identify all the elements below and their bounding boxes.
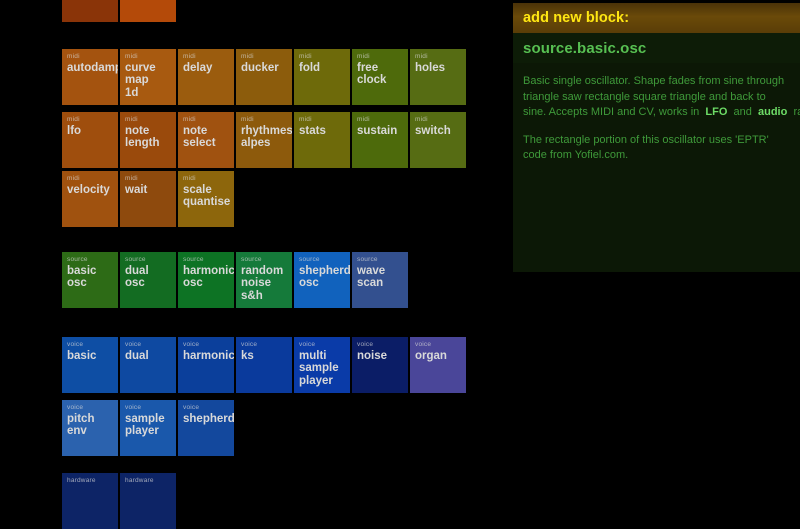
palette-block-shepherd[interactable]: voiceshepherd bbox=[178, 400, 234, 456]
block-category-label: midi bbox=[241, 54, 288, 61]
block-name-label: note length bbox=[125, 125, 172, 151]
block-name-label: basic bbox=[67, 350, 114, 363]
palette-block-fold[interactable]: midifold bbox=[294, 49, 350, 105]
block-category-label: midi bbox=[67, 176, 114, 183]
block-name-label: wave scan bbox=[357, 265, 404, 291]
block-name-label: organ bbox=[415, 350, 462, 363]
palette-block-unnamed[interactable]: hardware bbox=[62, 473, 118, 529]
block-category-label: midi bbox=[183, 117, 230, 124]
block-category-label: source bbox=[67, 257, 114, 264]
block-name-label: curve map 1d bbox=[125, 62, 172, 101]
palette-block-note-length[interactable]: midinote length bbox=[120, 112, 176, 168]
emphasis-audio: audio bbox=[758, 106, 787, 118]
palette-block-ducker[interactable]: mididucker bbox=[236, 49, 292, 105]
palette-block-unnamed[interactable]: hardware bbox=[120, 473, 176, 529]
block-name-label: sustain bbox=[357, 125, 404, 138]
palette-block-lfo[interactable]: midilfo bbox=[62, 112, 118, 168]
block-name-label: stats bbox=[299, 125, 346, 138]
palette-block-unnamed[interactable]: midi bbox=[62, 0, 118, 22]
block-category-label: voice bbox=[67, 405, 114, 412]
palette-block-wait[interactable]: midiwait bbox=[120, 171, 176, 227]
description-text-mid: and bbox=[727, 106, 758, 118]
block-category-label: voice bbox=[183, 405, 230, 412]
palette-block-holes[interactable]: midiholes bbox=[410, 49, 466, 105]
description-text-post: range bbox=[787, 106, 800, 118]
palette-block-dual-osc[interactable]: sourcedual osc bbox=[120, 252, 176, 308]
block-category-label: source bbox=[125, 257, 172, 264]
palette-block-organ[interactable]: voiceorgan bbox=[410, 337, 466, 393]
block-category-label: voice bbox=[357, 342, 404, 349]
block-name-label: velocity bbox=[67, 184, 114, 197]
palette-block-scale-quantise[interactable]: midiscale quantise bbox=[178, 171, 234, 227]
block-category-label: hardware bbox=[67, 478, 114, 485]
block-palette: midimidimidiautodampmidicurve map 1dmidi… bbox=[0, 0, 500, 503]
block-name-label: sample player bbox=[125, 413, 172, 439]
palette-block-sample-player[interactable]: voicesample player bbox=[120, 400, 176, 456]
block-name-label: rhythmes alpes bbox=[241, 125, 288, 151]
selected-block-title: source.basic.osc bbox=[523, 40, 646, 57]
block-category-label: voice bbox=[67, 342, 114, 349]
block-name-label: fold bbox=[299, 62, 346, 75]
info-panel-title-bar: source.basic.osc bbox=[513, 33, 800, 63]
block-category-label: midi bbox=[299, 117, 346, 124]
block-name-label: ks bbox=[241, 350, 288, 363]
info-panel-body: Basic single oscillator. Shape fades fro… bbox=[513, 63, 800, 164]
palette-block-basic[interactable]: voicebasic bbox=[62, 337, 118, 393]
block-name-label: random noise s&h bbox=[241, 265, 288, 304]
palette-block-rhythmes-alpes[interactable]: midirhythmes alpes bbox=[236, 112, 292, 168]
palette-block-dual[interactable]: voicedual bbox=[120, 337, 176, 393]
block-category-label: midi bbox=[67, 117, 114, 124]
block-category-label: hardware bbox=[125, 478, 172, 485]
block-name-label: wait bbox=[125, 184, 172, 197]
block-category-label: midi bbox=[357, 117, 404, 124]
block-category-label: midi bbox=[415, 117, 462, 124]
palette-block-unnamed[interactable]: midi bbox=[120, 0, 176, 22]
block-info-panel: add new block: source.basic.osc Basic si… bbox=[513, 3, 800, 272]
block-name-label: scale quantise bbox=[183, 184, 230, 210]
emphasis-lfo: LFO bbox=[705, 106, 727, 118]
palette-block-note-select[interactable]: midinote select bbox=[178, 112, 234, 168]
block-name-label: pitch env bbox=[67, 413, 114, 439]
block-category-label: voice bbox=[183, 342, 230, 349]
block-name-label: autodamp bbox=[67, 62, 114, 75]
block-name-label: harmonic bbox=[183, 350, 230, 363]
block-name-label: delay bbox=[183, 62, 230, 75]
block-name-label: shepherd bbox=[183, 413, 230, 426]
palette-block-random-noise-s&h[interactable]: sourcerandom noise s&h bbox=[236, 252, 292, 308]
block-category-label: source bbox=[357, 257, 404, 264]
palette-block-basic-osc[interactable]: sourcebasic osc bbox=[62, 252, 118, 308]
palette-block-switch[interactable]: midiswitch bbox=[410, 112, 466, 168]
block-category-label: source bbox=[183, 257, 230, 264]
block-category-label: voice bbox=[125, 342, 172, 349]
block-category-label: voice bbox=[299, 342, 346, 349]
palette-block-multi-sample-player[interactable]: voicemulti sample player bbox=[294, 337, 350, 393]
block-category-label: midi bbox=[415, 54, 462, 61]
add-new-block-label: add new block: bbox=[523, 10, 629, 26]
block-name-label: multi sample player bbox=[299, 350, 346, 389]
block-name-label: free clock bbox=[357, 62, 404, 88]
block-category-label: midi bbox=[299, 54, 346, 61]
block-name-label: dual osc bbox=[125, 265, 172, 291]
block-category-label: source bbox=[299, 257, 346, 264]
palette-block-pitch-env[interactable]: voicepitch env bbox=[62, 400, 118, 456]
palette-block-wave-scan[interactable]: sourcewave scan bbox=[352, 252, 408, 308]
palette-block-noise[interactable]: voicenoise bbox=[352, 337, 408, 393]
palette-block-curve-map-1d[interactable]: midicurve map 1d bbox=[120, 49, 176, 105]
block-name-label: shepherd osc bbox=[299, 265, 346, 291]
palette-block-ks[interactable]: voiceks bbox=[236, 337, 292, 393]
palette-block-free-clock[interactable]: midifree clock bbox=[352, 49, 408, 105]
block-category-label: voice bbox=[415, 342, 462, 349]
palette-block-autodamp[interactable]: midiautodamp bbox=[62, 49, 118, 105]
block-category-label: midi bbox=[183, 54, 230, 61]
block-name-label: basic osc bbox=[67, 265, 114, 291]
block-category-label: voice bbox=[241, 342, 288, 349]
palette-block-harmonic[interactable]: voiceharmonic bbox=[178, 337, 234, 393]
block-category-label: midi bbox=[125, 176, 172, 183]
block-category-label: midi bbox=[357, 54, 404, 61]
block-name-label: note select bbox=[183, 125, 230, 151]
block-name-label: switch bbox=[415, 125, 462, 138]
block-category-label: midi bbox=[125, 54, 172, 61]
palette-block-shepherd-osc[interactable]: sourceshepherd osc bbox=[294, 252, 350, 308]
palette-block-harmonic-osc[interactable]: sourceharmonic osc bbox=[178, 252, 234, 308]
palette-block-sustain[interactable]: midisustain bbox=[352, 112, 408, 168]
info-panel-header: add new block: bbox=[513, 3, 800, 33]
block-description-paragraph-2: The rectangle portion of this oscillator… bbox=[523, 133, 800, 164]
block-name-label: noise bbox=[357, 350, 404, 363]
block-name-label: ducker bbox=[241, 62, 288, 75]
block-category-label: source bbox=[241, 257, 288, 264]
palette-block-delay[interactable]: mididelay bbox=[178, 49, 234, 105]
block-category-label: midi bbox=[125, 117, 172, 124]
block-category-label: voice bbox=[125, 405, 172, 412]
block-description-paragraph-1: Basic single oscillator. Shape fades fro… bbox=[523, 74, 800, 121]
block-category-label: midi bbox=[241, 117, 288, 124]
block-name-label: dual bbox=[125, 350, 172, 363]
block-name-label: holes bbox=[415, 62, 462, 75]
block-name-label: harmonic osc bbox=[183, 265, 230, 291]
palette-block-velocity[interactable]: midivelocity bbox=[62, 171, 118, 227]
palette-block-stats[interactable]: midistats bbox=[294, 112, 350, 168]
block-category-label: midi bbox=[183, 176, 230, 183]
block-category-label: midi bbox=[67, 54, 114, 61]
block-name-label: lfo bbox=[67, 125, 114, 138]
